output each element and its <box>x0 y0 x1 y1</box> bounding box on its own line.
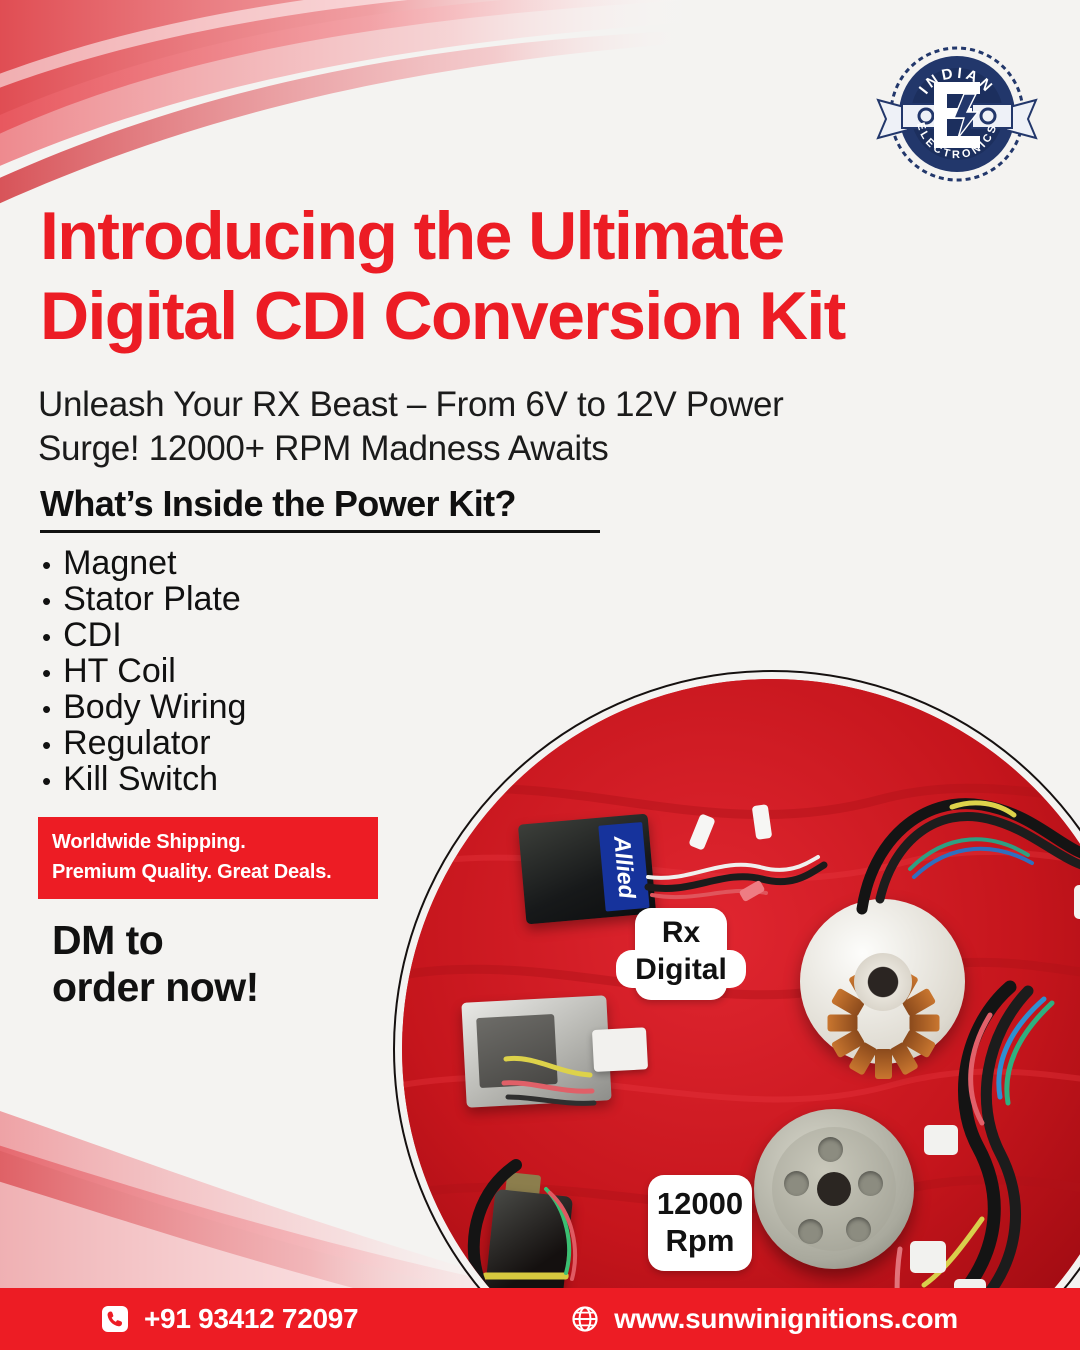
bullet-icon: • <box>42 732 51 758</box>
kit-section-heading: What’s Inside the Power Kit? <box>40 483 620 533</box>
subheading-line-1: Unleash Your RX Beast – From 6V to 12V P… <box>38 383 868 427</box>
footer-phone-text: +91 93412 72097 <box>144 1303 358 1335</box>
tag-rx-line-2: Digital <box>616 950 746 989</box>
list-item-label: Kill Switch <box>63 762 218 797</box>
component-cdi: Allied <box>518 814 656 925</box>
stator-wiring-harness <box>802 749 1080 949</box>
tag-rx-line-1: Rx <box>662 916 700 949</box>
kit-contents-list: •Magnet •Stator Plate •CDI •HT Coil •Bod… <box>42 546 246 798</box>
cta-line-2: order now! <box>52 964 259 1011</box>
poster-canvas: INDIAN ELECTRONICS Introducing the Ultim… <box>0 0 1080 1350</box>
list-item-label: Regulator <box>63 726 210 761</box>
bullet-icon: • <box>42 624 51 650</box>
tag-rpm: 12000 Rpm <box>648 1175 752 1271</box>
tag-rpm-line-2: Rpm <box>666 1223 735 1258</box>
shipping-badge-line-2: Premium Quality. Great Deals. <box>52 857 362 887</box>
shipping-badge-line-1: Worldwide Shipping. <box>52 827 362 857</box>
bullet-icon: • <box>42 768 51 794</box>
list-item: •Kill Switch <box>42 762 246 797</box>
list-item: •Body Wiring <box>42 690 246 725</box>
list-item: •Magnet <box>42 546 246 581</box>
list-item-label: Stator Plate <box>63 582 241 617</box>
bullet-icon: • <box>42 552 51 578</box>
page-title: Introducing the Ultimate Digital CDI Con… <box>40 196 930 356</box>
cdi-brand-text: Allied <box>608 834 640 899</box>
bullet-icon: • <box>42 588 51 614</box>
rotor-hub <box>817 1172 851 1206</box>
list-item-label: CDI <box>63 618 122 653</box>
list-item-label: Magnet <box>63 546 176 581</box>
bullet-icon: • <box>42 660 51 686</box>
phone-icon <box>100 1304 130 1334</box>
footer-website-text: www.sunwinignitions.com <box>614 1303 958 1335</box>
footer-website[interactable]: www.sunwinignitions.com <box>570 1303 958 1335</box>
footer-contact-bar: +91 93412 72097 www.sunwinignitions.com <box>0 1288 1080 1350</box>
tag-rx-digital: Rx Digital <box>635 908 727 1000</box>
subheading-line-2: Surge! 12000+ RPM Madness Awaits <box>38 427 868 471</box>
cta-line-1: DM to <box>52 917 259 964</box>
kit-section-heading-text: What’s Inside the Power Kit? <box>40 483 620 525</box>
bullet-icon: • <box>42 696 51 722</box>
cta-text: DM to order now! <box>52 917 259 1011</box>
list-item: •CDI <box>42 618 246 653</box>
list-item: •Regulator <box>42 726 246 761</box>
headline-line-1: Introducing the Ultimate <box>40 198 784 274</box>
list-item: •Stator Plate <box>42 582 246 617</box>
brand-logo: INDIAN ELECTRONICS <box>872 38 1042 190</box>
headline-line-2: Digital CDI Conversion Kit <box>40 276 930 356</box>
list-item-label: HT Coil <box>63 654 176 689</box>
footer-phone[interactable]: +91 93412 72097 <box>100 1303 358 1335</box>
kit-section-divider <box>40 530 600 533</box>
regulator-wiring <box>498 1035 628 1125</box>
tag-rpm-line-1: 12000 <box>657 1186 743 1221</box>
globe-icon <box>570 1304 600 1334</box>
shipping-badge: Worldwide Shipping. Premium Quality. Gre… <box>38 817 378 899</box>
list-item-label: Body Wiring <box>63 690 246 725</box>
list-item: •HT Coil <box>42 654 246 689</box>
subheading: Unleash Your RX Beast – From 6V to 12V P… <box>38 383 868 471</box>
